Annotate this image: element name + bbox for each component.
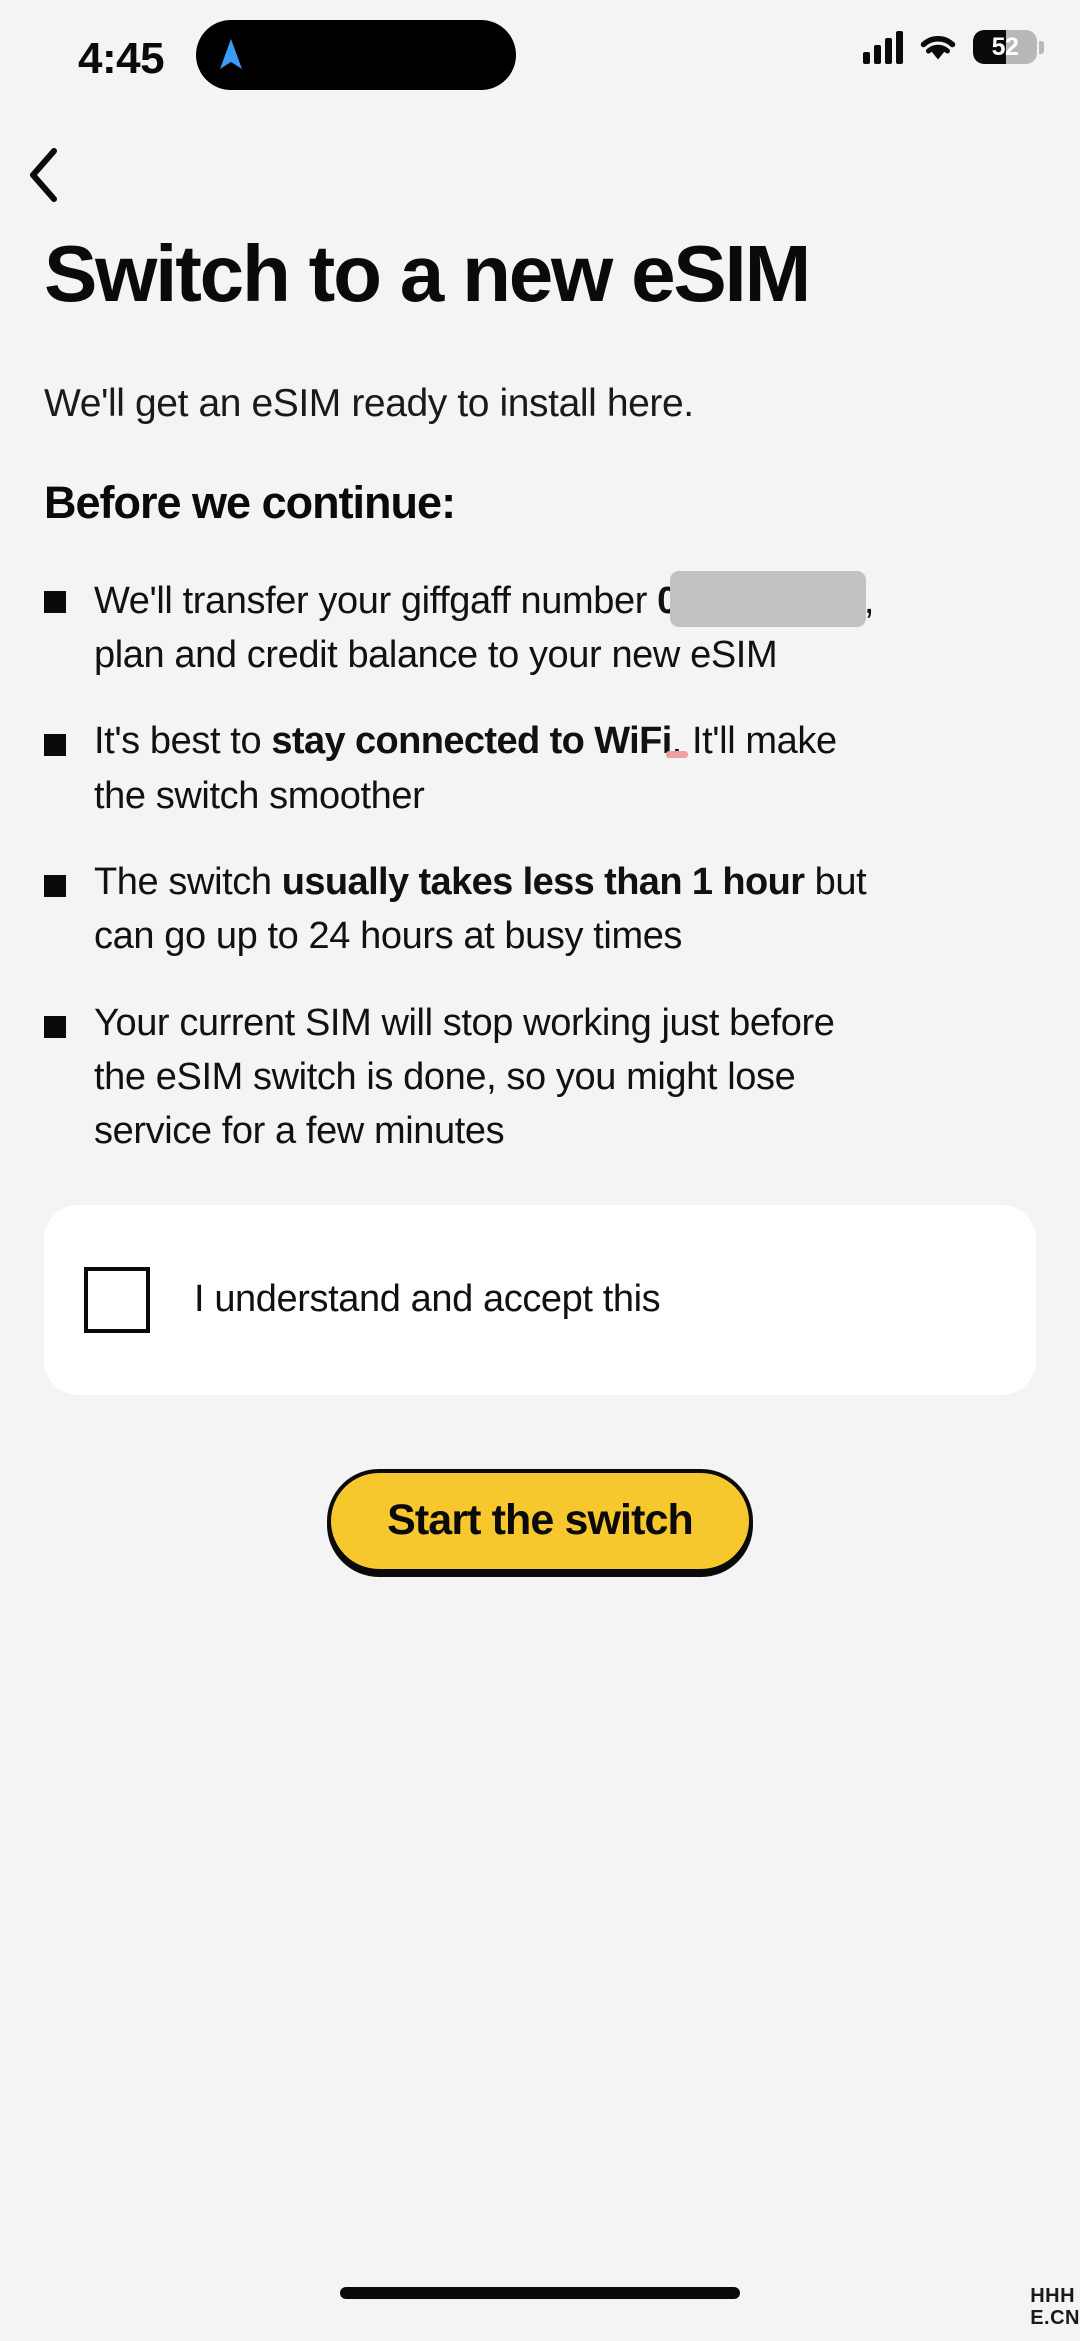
start-the-switch-button[interactable]: Start the switch (327, 1469, 753, 1573)
status-time: 4:45 (78, 34, 164, 84)
bullet-text-part1: The switch (94, 861, 282, 903)
bullet-text-part1: We'll transfer your giffgaff number (94, 580, 647, 622)
bullet-text-bold: usually takes less than 1 hour (282, 861, 805, 903)
status-bar: 4:45 52 (0, 0, 1080, 118)
location-arrow-icon (218, 38, 244, 72)
bullet-text-part1: It's best to (94, 720, 271, 762)
bullet-text: The switch usually takes less than 1 hou… (94, 855, 894, 964)
chevron-left-icon[interactable] (24, 147, 64, 203)
list-item: Your current SIM will stop working just … (44, 996, 1036, 1159)
bullet-text: We'll transfer your giffgaff number 0, p… (94, 571, 894, 683)
redacted-phone-number: 0 (657, 580, 864, 622)
watermark: HHH E.CN (1030, 2285, 1080, 2329)
accept-checkbox-label: I understand and accept this (194, 1278, 660, 1321)
intro-text: We'll get an eSIM ready to install here. (44, 378, 1036, 431)
page-title: Switch to a new eSIM (44, 232, 904, 316)
cellular-signal-icon (863, 30, 903, 64)
watermark-line-2: E.CN (1030, 2307, 1080, 2329)
list-item: The switch usually takes less than 1 hou… (44, 855, 1036, 964)
list-item: We'll transfer your giffgaff number 0, p… (44, 571, 1036, 683)
accept-terms-card[interactable]: I understand and accept this (44, 1205, 1036, 1395)
section-title: Before we continue: (44, 477, 1036, 529)
bullet-text-part1: Your current SIM will stop working just … (94, 1002, 835, 1153)
redaction-block (670, 571, 866, 627)
accept-checkbox[interactable] (84, 1267, 150, 1333)
list-item: It's best to stay connected to WiFi. It'… (44, 714, 1036, 823)
status-icons: 52 (863, 30, 1044, 64)
wifi-icon (918, 32, 958, 62)
dynamic-island (196, 20, 516, 90)
home-indicator[interactable] (340, 2287, 740, 2299)
battery-percent: 52 (973, 30, 1037, 64)
bullet-marker-icon (44, 734, 66, 756)
cta-container: Start the switch (0, 1469, 1080, 1573)
bullet-text: It's best to stay connected to WiFi. It'… (94, 714, 894, 823)
bullet-marker-icon (44, 1016, 66, 1038)
bullet-marker-icon (44, 591, 66, 613)
bullet-marker-icon (44, 875, 66, 897)
bullet-list: We'll transfer your giffgaff number 0, p… (44, 571, 1036, 1159)
watermark-line-1: HHH (1030, 2285, 1080, 2307)
battery-nub (1039, 41, 1044, 54)
bullet-text-bold: stay connected to WiFi (271, 720, 671, 762)
main-content: Switch to a new eSIM We'll get an eSIM r… (0, 232, 1080, 1159)
back-button[interactable] (0, 132, 1080, 218)
battery-icon: 52 (973, 30, 1037, 64)
bullet-text: Your current SIM will stop working just … (94, 996, 894, 1159)
